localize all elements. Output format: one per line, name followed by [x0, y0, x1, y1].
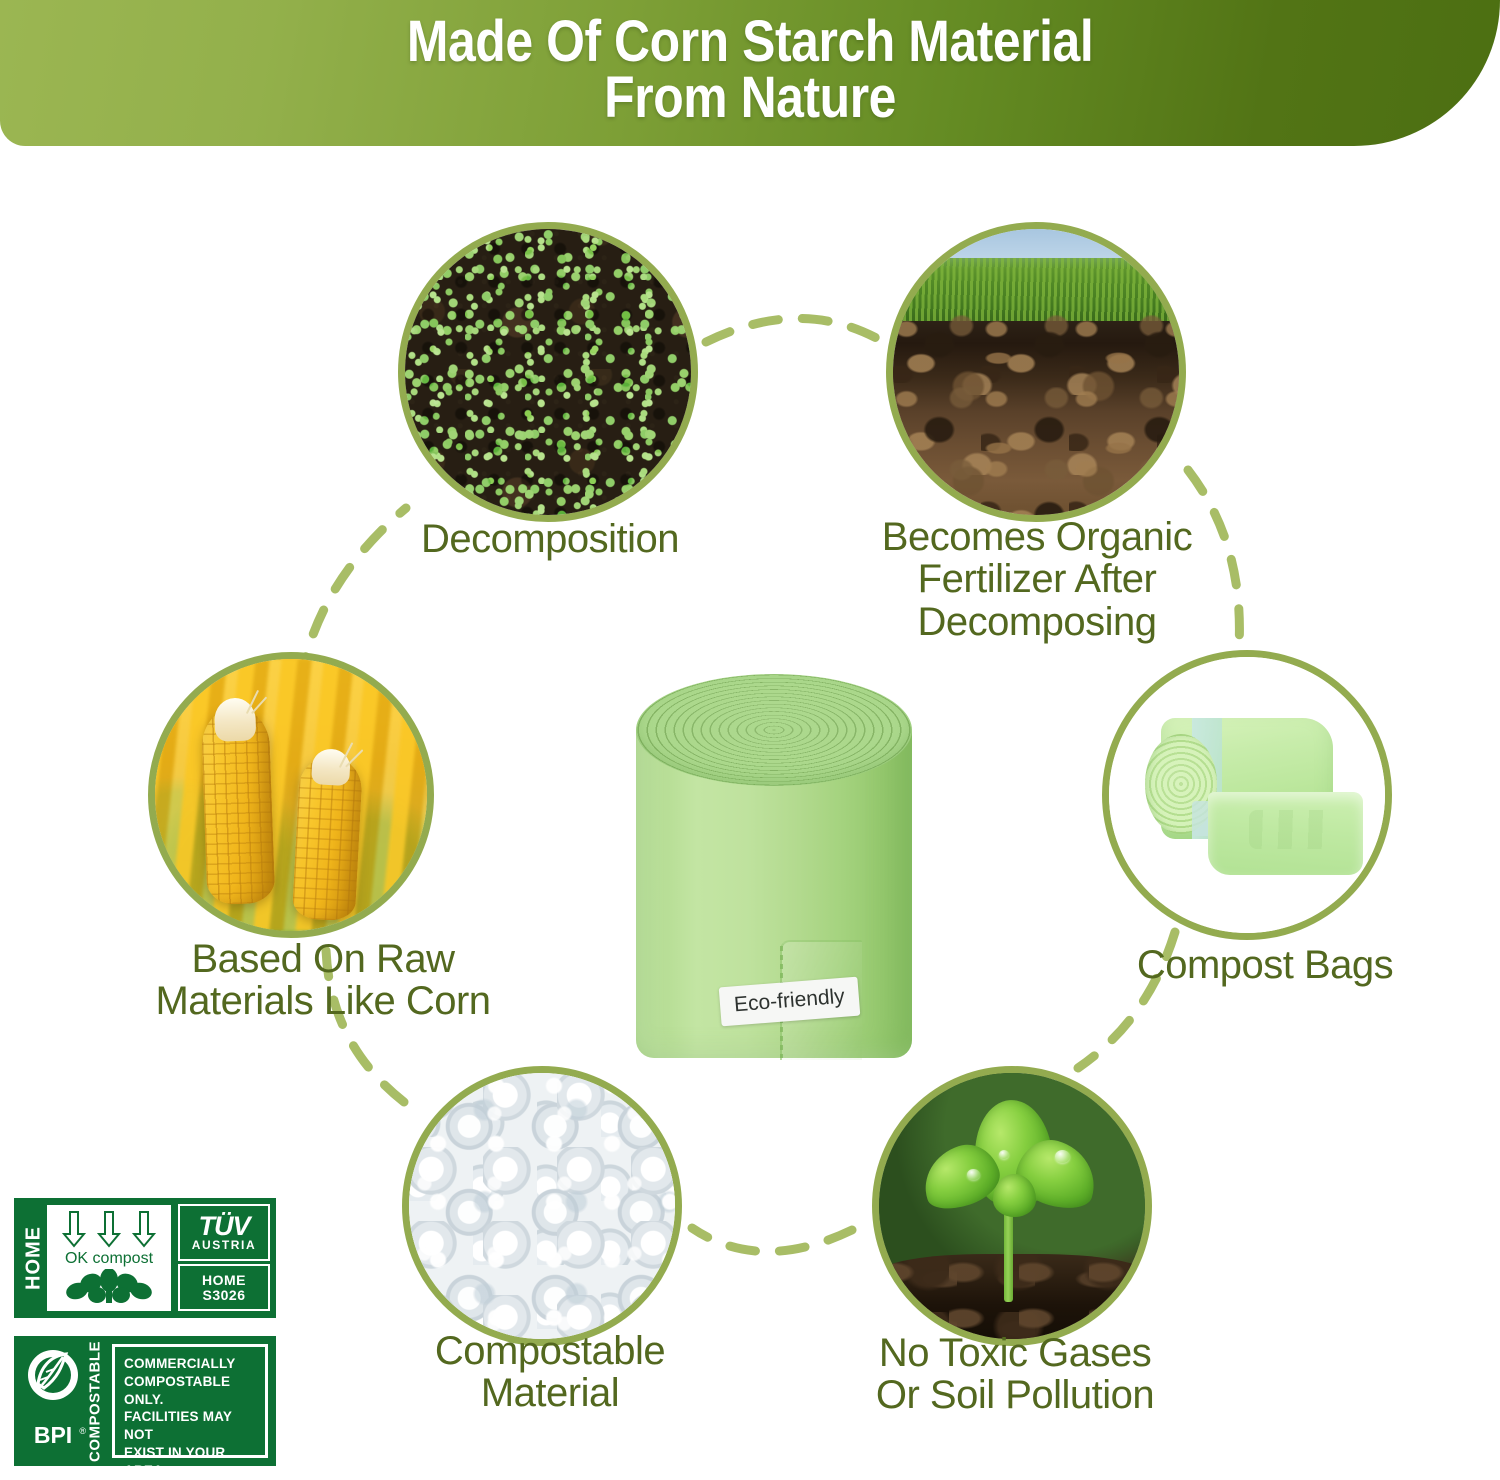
- seedling-texture: [879, 1073, 1145, 1339]
- decomposition-label: Decomposition: [330, 518, 770, 560]
- tuv-logo-box: TÜV AUSTRIA: [178, 1204, 270, 1261]
- down-arrow-icon: [62, 1210, 86, 1250]
- tuv-home-vertical-text: HOME: [21, 1205, 47, 1311]
- header-banner: Made Of Corn Starch Material From Nature: [0, 0, 1500, 146]
- infographic-page: Made Of Corn Starch Material From Nature…: [0, 0, 1500, 1480]
- tuv-code-text: S3026: [203, 1288, 246, 1303]
- compost-fragments-texture: [405, 229, 691, 515]
- tuv-ok-compost-text: OK compost: [65, 1251, 153, 1267]
- tuv-region-text: AUSTRIA: [192, 1238, 257, 1252]
- no-toxic-gases-image: [872, 1066, 1152, 1346]
- tuv-code-box: HOME S3026: [178, 1264, 270, 1311]
- no-toxic-gases-label: No Toxic Gases Or Soil Pollution: [790, 1332, 1240, 1417]
- seedling-leaf-inner: [993, 1174, 1036, 1217]
- soil-cross-section-texture: [893, 229, 1179, 515]
- down-arrow-icon: [97, 1210, 121, 1250]
- bpi-leaf-icon: [22, 1344, 84, 1424]
- corn-field-texture: [155, 659, 427, 931]
- compostable-material-image: [402, 1066, 682, 1346]
- bag-roll-tail: [1208, 792, 1363, 875]
- compost-bag-roll-illustration: [1109, 657, 1385, 933]
- compost-bags-image: [1102, 650, 1392, 940]
- product-bag-roll: Eco-friendly: [628, 660, 920, 1060]
- tuv-brand-text: TÜV: [199, 1214, 250, 1238]
- compostable-material-label: Compostable Material: [350, 1330, 750, 1415]
- seedling-flower-icon: [57, 1269, 161, 1303]
- connector-decomposition-to-fertilizer: [706, 318, 880, 342]
- bpi-logo-mark: BPI ®: [22, 1344, 84, 1458]
- organic-fertilizer-label: Becomes Organic Fertilizer After Decompo…: [792, 516, 1282, 643]
- raw-materials-corn-label: Based On Raw Materials Like Corn: [88, 938, 558, 1023]
- decomposition-image: [398, 222, 698, 522]
- down-arrow-icon: [132, 1210, 156, 1250]
- tuv-ok-compost-panel: OK compost: [47, 1205, 171, 1311]
- water-droplet-1: [967, 1169, 980, 1180]
- organic-fertilizer-image: [886, 222, 1186, 522]
- tuv-right-panel: TÜV AUSTRIA HOME S3026: [175, 1201, 273, 1315]
- tuv-left-panel: HOME OK compost: [17, 1201, 175, 1315]
- bpi-compostable-vertical-text: COMPOSTABLE: [84, 1344, 106, 1458]
- bpi-notice-text: COMMERCIALLY COMPOSTABLE ONLY. FACILITIE…: [112, 1344, 268, 1458]
- certification-badge-bpi-compostable: BPI ® COMPOSTABLE COMMERCIALLY COMPOSTAB…: [14, 1336, 276, 1466]
- connector-notoxic-to-compostable: [692, 1228, 852, 1252]
- resin-pellets-texture: [409, 1073, 675, 1339]
- certification-badge-tuv-home-compost: HOME OK compost: [14, 1198, 276, 1318]
- bpi-brand-text: BPI: [34, 1422, 72, 1448]
- water-droplet-3: [999, 1150, 1009, 1159]
- page-title: Made Of Corn Starch Material From Nature: [407, 14, 1093, 133]
- compost-bags-label: Compost Bags: [1050, 944, 1480, 986]
- roll-top-coil: [636, 674, 912, 786]
- tuv-scheme-text: HOME: [202, 1273, 246, 1288]
- down-arrows-group: [62, 1210, 156, 1250]
- corn-cob-left: [201, 707, 276, 905]
- water-droplet-2: [1055, 1150, 1070, 1163]
- raw-materials-corn-image: [148, 652, 434, 938]
- corn-cob-right: [292, 755, 363, 921]
